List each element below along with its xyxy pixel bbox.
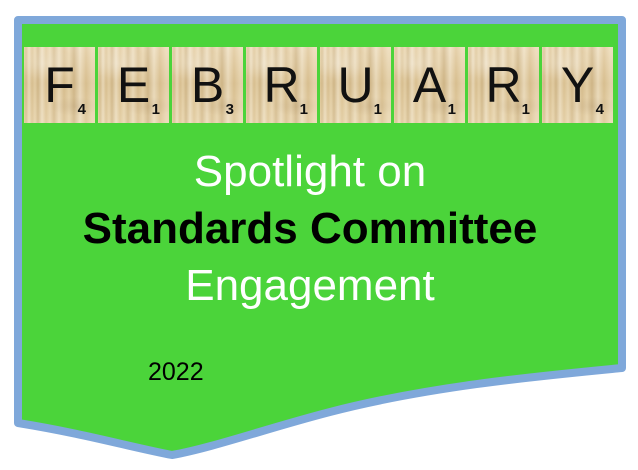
scrabble-tile-row: F 4 E 1 B 3 R 1 U 1 A 1 R 1 Y 4 (24, 47, 616, 123)
tile-point-value: 1 (300, 102, 308, 117)
scrabble-tile: R 1 (246, 47, 317, 123)
headline-line-3: Engagement (22, 257, 598, 314)
slide-canvas: F 4 E 1 B 3 R 1 U 1 A 1 R 1 Y 4 (0, 0, 638, 470)
headline-line-1: Spotlight on (22, 143, 598, 200)
tile-point-value: 4 (78, 102, 86, 117)
tile-point-value: 1 (522, 102, 530, 117)
tile-point-value: 4 (596, 102, 604, 117)
scrabble-tile: A 1 (394, 47, 465, 123)
headline-block: Spotlight on Standards Committee Engagem… (22, 143, 598, 314)
tile-point-value: 1 (448, 102, 456, 117)
scrabble-tile: F 4 (24, 47, 95, 123)
scrabble-tile: R 1 (468, 47, 539, 123)
tile-point-value: 3 (226, 102, 234, 117)
scrabble-tile: U 1 (320, 47, 391, 123)
scrabble-tile: Y 4 (542, 47, 613, 123)
headline-line-2: Standards Committee (22, 200, 598, 257)
tile-point-value: 1 (152, 102, 160, 117)
year-label: 2022 (148, 358, 204, 386)
tile-point-value: 1 (374, 102, 382, 117)
scrabble-tile: B 3 (172, 47, 243, 123)
scrabble-tile: E 1 (98, 47, 169, 123)
